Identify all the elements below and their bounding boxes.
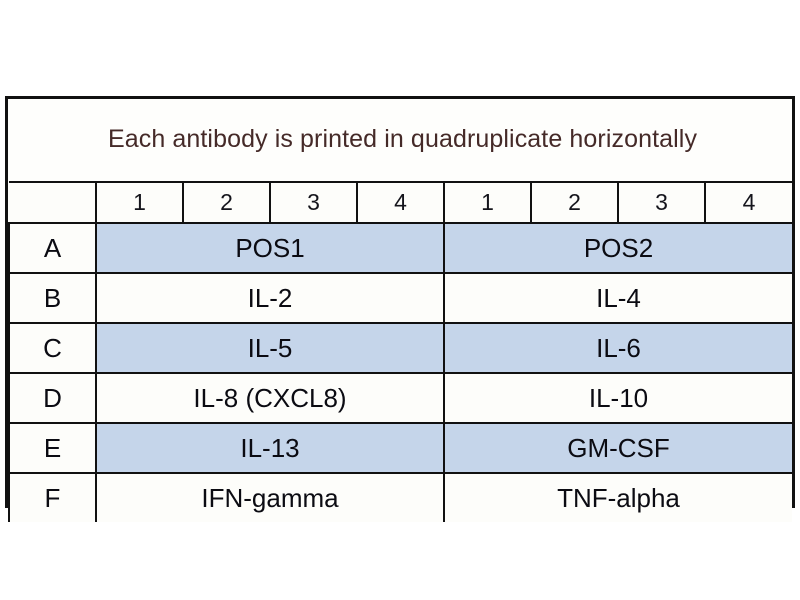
column-header-right-3: 3 xyxy=(618,182,705,223)
table-body: Each antibody is printed in quadruplicat… xyxy=(9,99,792,522)
analyte-cell-c-left: IL-5 xyxy=(96,323,444,373)
analyte-cell-f-left: IFN-gamma xyxy=(96,473,444,522)
table-row: E IL-13 GM-CSF xyxy=(9,423,792,473)
column-header-left-4: 4 xyxy=(357,182,444,223)
table-row: B IL-2 IL-4 xyxy=(9,273,792,323)
table-row: F IFN-gamma TNF-alpha xyxy=(9,473,792,522)
column-header-right-1: 1 xyxy=(444,182,531,223)
analyte-cell-e-right: GM-CSF xyxy=(444,423,792,473)
table-row: A POS1 POS2 xyxy=(9,223,792,273)
figure-title: Each antibody is printed in quadruplicat… xyxy=(9,126,792,154)
row-label-b: B xyxy=(9,273,96,323)
corner-cell xyxy=(9,182,96,223)
row-label-f: F xyxy=(9,473,96,522)
analyte-cell-b-left: IL-2 xyxy=(96,273,444,323)
analyte-cell-a-left: POS1 xyxy=(96,223,444,273)
column-header-right-4: 4 xyxy=(705,182,792,223)
column-header-left-1: 1 xyxy=(96,182,183,223)
title-cell: Each antibody is printed in quadruplicat… xyxy=(9,99,792,182)
analyte-cell-e-left: IL-13 xyxy=(96,423,444,473)
row-label-a: A xyxy=(9,223,96,273)
analyte-cell-f-right: TNF-alpha xyxy=(444,473,792,522)
analyte-cell-b-right: IL-4 xyxy=(444,273,792,323)
analyte-cell-d-right: IL-10 xyxy=(444,373,792,423)
row-label-c: C xyxy=(9,323,96,373)
analyte-cell-d-left: IL-8 (CXCL8) xyxy=(96,373,444,423)
title-row: Each antibody is printed in quadruplicat… xyxy=(9,99,792,182)
column-header-left-2: 2 xyxy=(183,182,270,223)
antibody-array-map: Each antibody is printed in quadruplicat… xyxy=(5,96,795,508)
array-layout-table: Each antibody is printed in quadruplicat… xyxy=(8,99,792,522)
table-row: C IL-5 IL-6 xyxy=(9,323,792,373)
analyte-cell-c-right: IL-6 xyxy=(444,323,792,373)
analyte-cell-a-right: POS2 xyxy=(444,223,792,273)
column-header-left-3: 3 xyxy=(270,182,357,223)
table-row: D IL-8 (CXCL8) IL-10 xyxy=(9,373,792,423)
column-header-row: 1 2 3 4 1 2 3 4 xyxy=(9,182,792,223)
row-label-d: D xyxy=(9,373,96,423)
row-label-e: E xyxy=(9,423,96,473)
column-header-right-2: 2 xyxy=(531,182,618,223)
